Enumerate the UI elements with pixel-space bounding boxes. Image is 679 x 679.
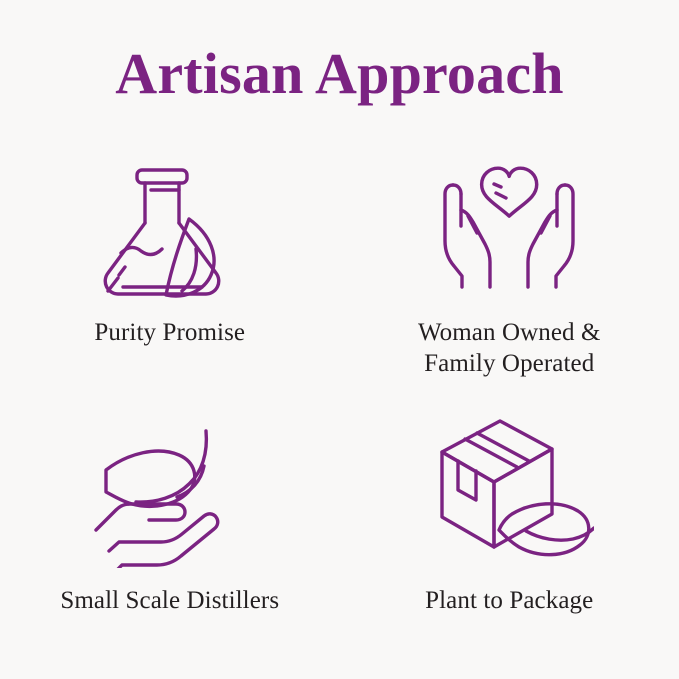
package-box-leaf-icon <box>424 418 594 568</box>
feature-item-purity-promise: Purity Promise <box>0 150 340 400</box>
feature-grid: Purity Promise <box>0 150 679 650</box>
hands-holding-heart-icon <box>424 154 594 304</box>
feature-label: Purity Promise <box>94 318 245 349</box>
feature-label: Woman Owned & Family Operated <box>418 318 601 379</box>
feature-item-small-scale-distillers: Small Scale Distillers <box>0 400 340 650</box>
page-title: Artisan Approach <box>0 44 679 105</box>
artisan-approach-panel: Artisan Approach <box>0 0 679 679</box>
feature-item-woman-owned: Woman Owned & Family Operated <box>340 150 679 400</box>
feature-item-plant-to-package: Plant to Package <box>340 400 679 650</box>
feature-label: Small Scale Distillers <box>60 586 279 617</box>
flask-leaf-icon <box>85 154 255 304</box>
feature-label: Plant to Package <box>425 586 593 617</box>
hand-holding-leaf-icon <box>85 418 255 568</box>
